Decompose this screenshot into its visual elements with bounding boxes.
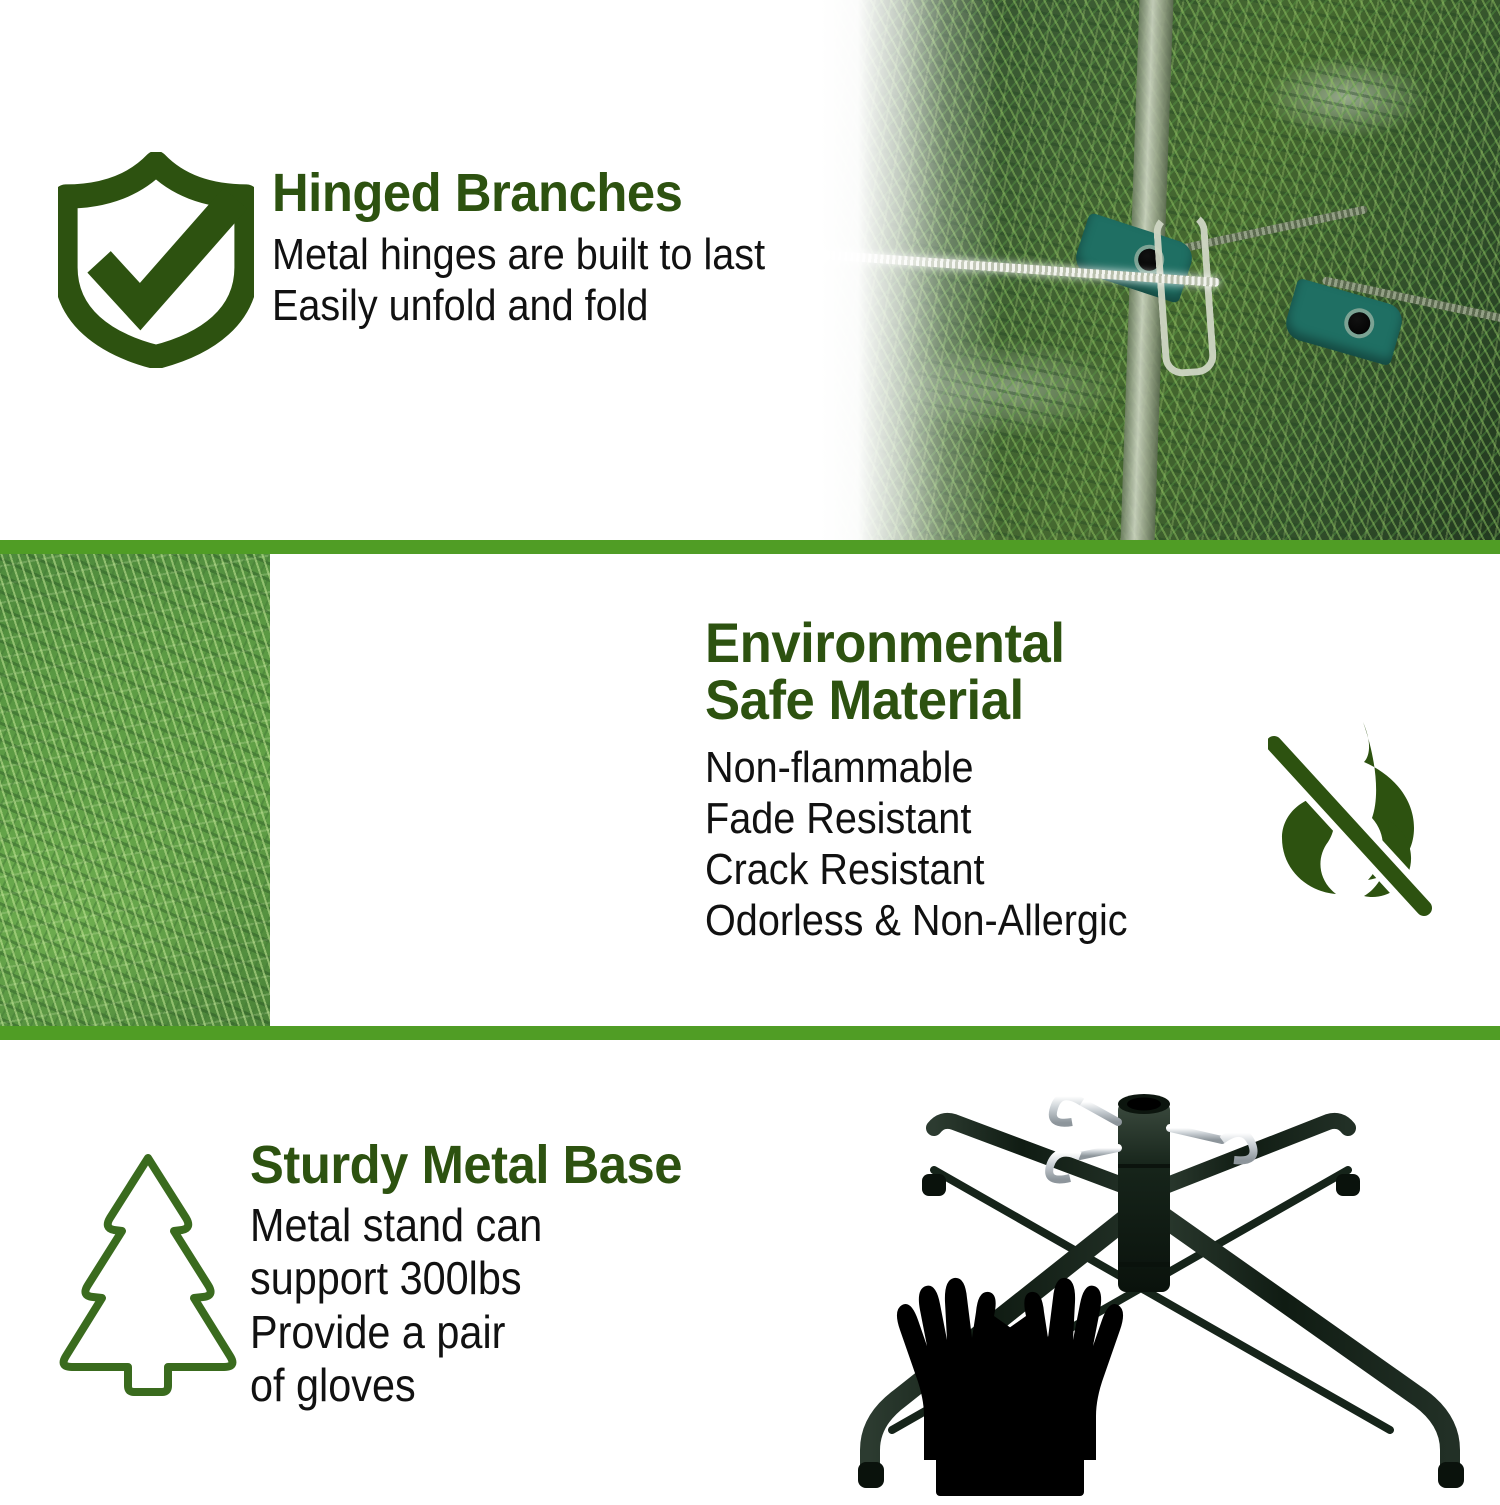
metal-stand-photo (830, 1078, 1490, 1500)
tree-branches-photo (0, 554, 620, 1026)
photo-edge-mask (270, 554, 620, 1026)
shield-check-icon (58, 152, 254, 368)
feature-heading: Environmental Safe Material (705, 614, 1269, 728)
feature-body: Metal stand can support 300lbs Provide a… (250, 1199, 835, 1412)
tree-outline-icon (58, 1148, 238, 1398)
feature-text-sturdy-metal-base: Sturdy Metal Base Metal stand can suppor… (250, 1138, 900, 1413)
feature-text-environmental-safe-material: Environmental Safe Material Non-flammabl… (705, 614, 1305, 946)
feature-panel-hinged-branches: Hinged Branches Metal hinges are built t… (0, 0, 1500, 540)
section-divider-1 (0, 540, 1500, 554)
feature-heading: Sturdy Metal Base (250, 1138, 861, 1193)
feature-body: Metal hinges are built to last Easily un… (272, 229, 866, 331)
photo-hinge-loop (1152, 210, 1217, 377)
section-divider-2 (0, 1026, 1500, 1040)
feature-body: Non-flammable Fade Resistant Crack Resis… (705, 742, 1245, 946)
feature-text-hinged-branches: Hinged Branches Metal hinges are built t… (272, 166, 932, 331)
product-feature-infographic: Hinged Branches Metal hinges are built t… (0, 0, 1500, 1500)
feature-heading: Hinged Branches (272, 166, 892, 221)
